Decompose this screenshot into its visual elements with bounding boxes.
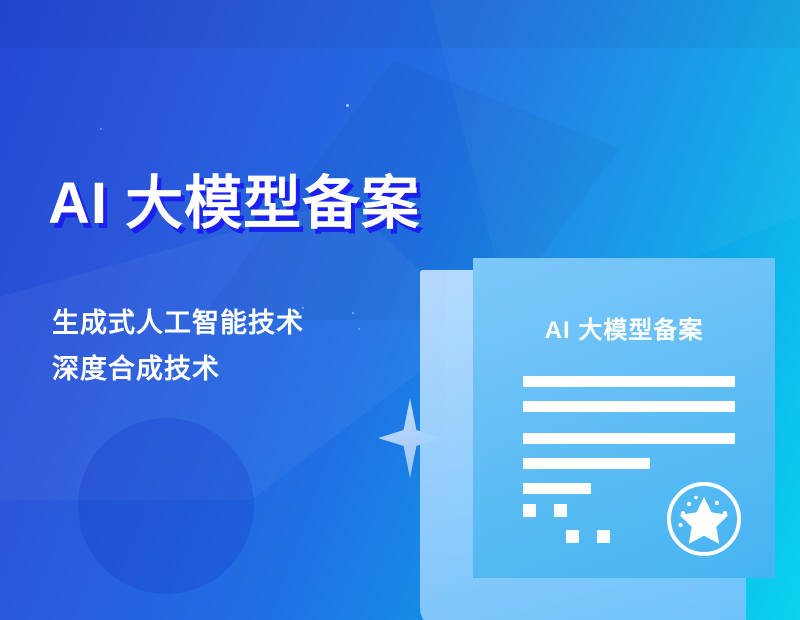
subtitle-block: 生成式人工智能技术 深度合成技术 — [52, 300, 304, 392]
document-line — [523, 376, 735, 387]
document-line — [523, 401, 735, 412]
document-mark — [597, 530, 610, 543]
background-dot — [346, 104, 349, 107]
document-card-title: AI 大模型备案 — [473, 310, 775, 345]
background-dot — [100, 128, 102, 130]
ai-model-filing-banner: AI 大模型备案 生成式人工智能技术 深度合成技术 AI 大模型备案 — [0, 0, 800, 620]
document-line — [523, 458, 650, 469]
page-title: AI 大模型备案 — [48, 172, 420, 237]
document-line — [523, 433, 735, 444]
document-mark — [566, 530, 579, 543]
subtitle-line-1: 生成式人工智能技术 — [52, 300, 304, 346]
background-circle — [78, 418, 254, 594]
star-seal-icon — [665, 480, 743, 558]
background-dot — [358, 328, 360, 330]
document-mark — [554, 504, 567, 517]
document-line — [523, 483, 591, 494]
document-mark — [523, 504, 536, 517]
background-top-band — [0, 0, 800, 48]
subtitle-line-2: 深度合成技术 — [52, 346, 304, 392]
document-card: AI 大模型备案 — [473, 258, 775, 578]
background-dot — [352, 312, 354, 314]
